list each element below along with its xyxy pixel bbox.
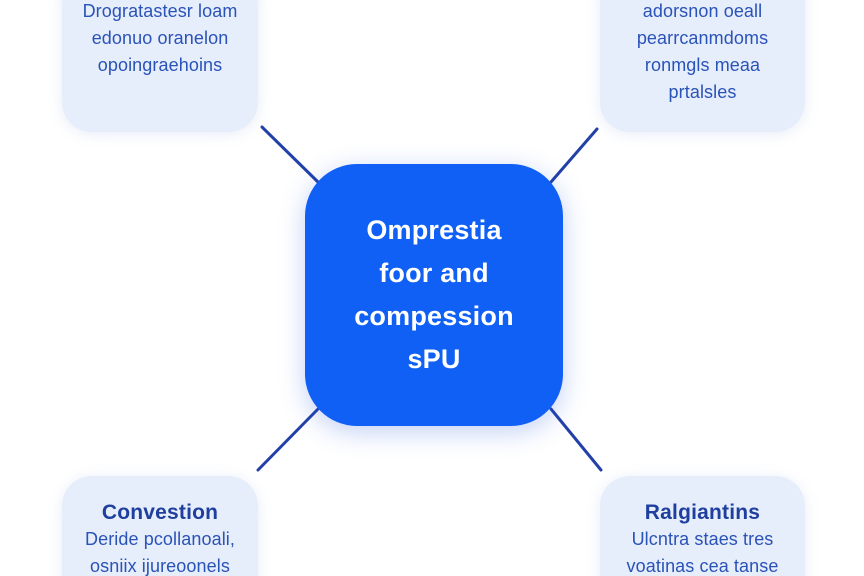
card-line-top-right-3: ronmgls meaa (645, 52, 760, 79)
card-title-bottom-right: Ralgiantins (645, 500, 760, 526)
diagram-card-top-left[interactable]: Compentres Drogratastesr loam edonuo ora… (62, 0, 258, 132)
connector-center-to-bottom-left (258, 409, 318, 470)
diagram-card-bottom-left[interactable]: Convestion Deride pcollanoali, osniix ij… (62, 476, 258, 576)
center-node-line-2: foor and (379, 252, 489, 295)
connector-center-to-top-left (262, 127, 318, 182)
diagram-canvas: Compentres Drogratastesr loam edonuo ora… (0, 0, 864, 576)
diagram-card-top-right[interactable]: Assesmens adorsnon oeall pearrcanmdoms r… (600, 0, 805, 132)
card-line-top-right-4: prtalsles (669, 79, 737, 106)
card-line-bottom-right-1: Ulcntra staes tres (632, 526, 774, 553)
card-line-top-left-1: Drogratastesr loam (83, 0, 238, 25)
connector-center-to-bottom-right (551, 409, 601, 470)
center-node-line-4: sPU (407, 338, 460, 381)
card-line-top-left-3: opoingraehoins (98, 52, 223, 79)
card-line-top-left-2: edonuo oranelon (92, 25, 229, 52)
center-node-line-3: compession (354, 295, 514, 338)
card-line-top-right-1: adorsnon oeall (643, 0, 763, 25)
card-line-bottom-left-2: osniix ijureoonels (90, 553, 230, 576)
center-node-line-1: Omprestia (366, 209, 501, 252)
diagram-center-node[interactable]: Omprestia foor and compession sPU (305, 164, 563, 426)
card-title-bottom-left: Convestion (102, 500, 218, 526)
connector-center-to-top-right (551, 129, 597, 182)
card-line-bottom-left-1: Deride pcollanoali, (85, 526, 235, 553)
card-line-top-right-2: pearrcanmdoms (637, 25, 768, 52)
diagram-card-bottom-right[interactable]: Ralgiantins Ulcntra staes tres voatinas … (600, 476, 805, 576)
card-line-bottom-right-2: voatinas cea tanse (627, 553, 779, 576)
